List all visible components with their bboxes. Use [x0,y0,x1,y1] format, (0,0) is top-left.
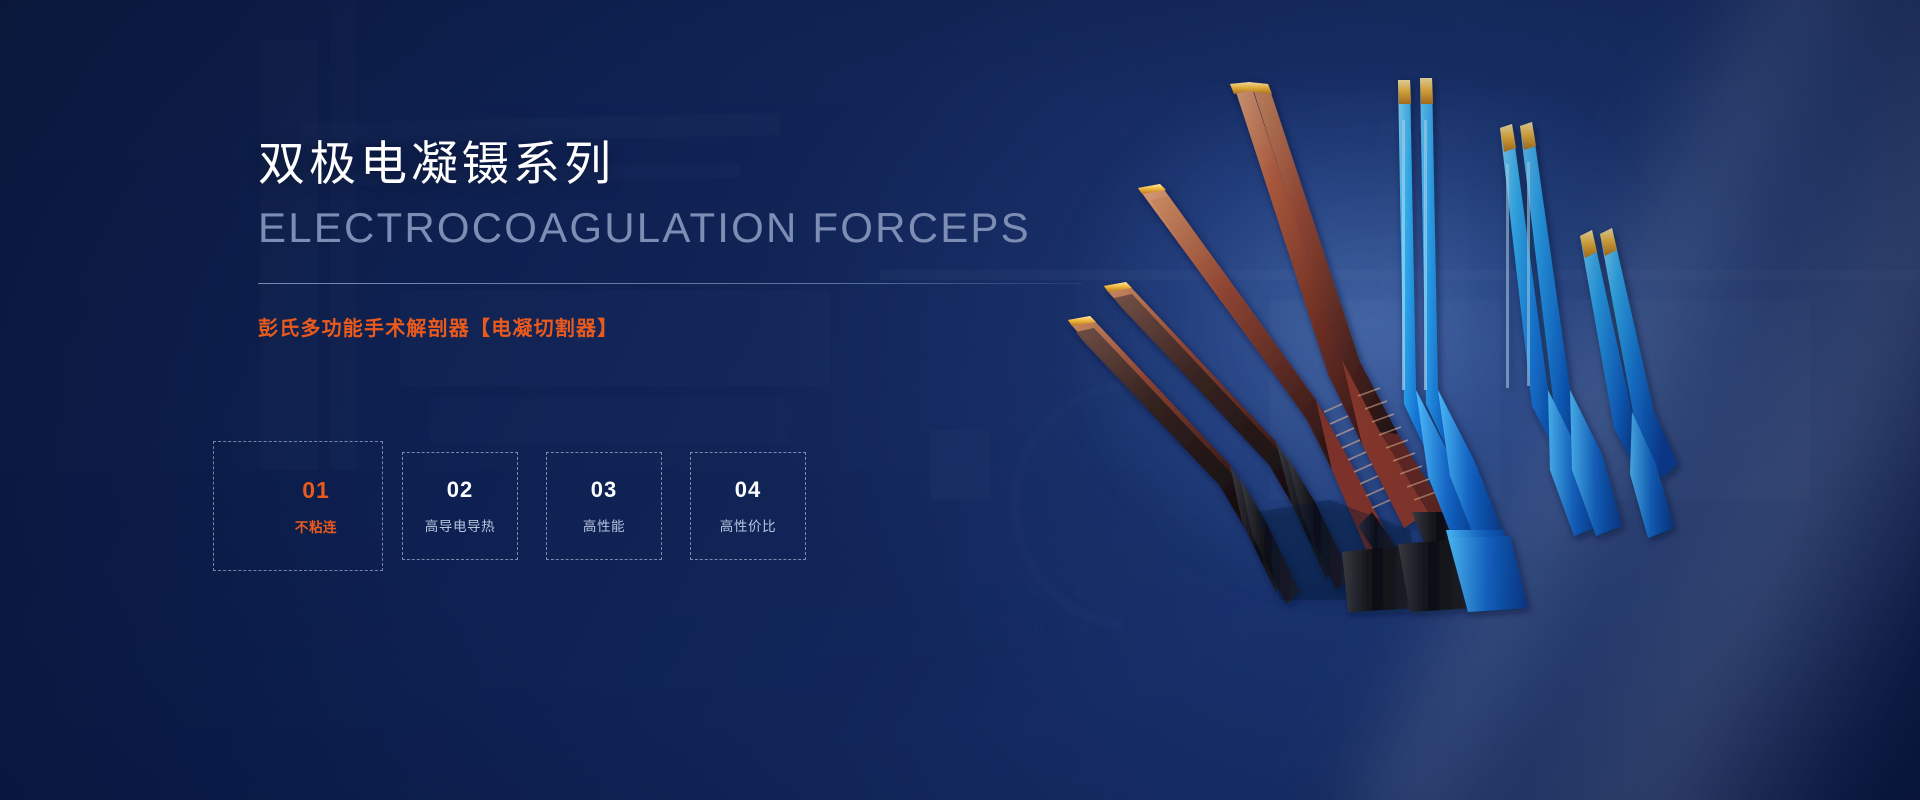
feature-label: 高性能 [583,515,625,535]
page-title: 双极电凝镊系列 [258,140,1098,187]
page-subtitle-en: ELECTROCOAGULATION FORCEPS [258,207,1098,249]
feature-label: 高导电导热 [425,515,496,535]
feature-box-02[interactable]: 02 高导电导热 [402,452,518,560]
feature-number: 03 [591,477,617,503]
banner-text-block: 双极电凝镊系列 ELECTROCOAGULATION FORCEPS 彭氏多功能… [258,140,1098,341]
title-divider [258,283,1082,284]
feature-label: 不粘连 [295,516,337,536]
forceps-product-image [1080,60,1640,620]
feature-label: 高性价比 [720,515,776,535]
feature-number: 01 [302,477,330,504]
product-banner: 双极电凝镊系列 ELECTROCOAGULATION FORCEPS 彭氏多功能… [0,0,1920,800]
feature-box-03[interactable]: 03 高性能 [546,452,662,560]
feature-box-list: 01 不粘连 02 高导电导热 03 高性能 04 高性价比 [258,452,806,560]
feature-number: 04 [735,477,761,503]
feature-number: 02 [447,477,473,503]
product-tagline: 彭氏多功能手术解剖器【电凝切割器】 [258,312,1098,341]
feature-box-01[interactable]: 01 不粘连 [258,452,374,560]
feature-box-04[interactable]: 04 高性价比 [690,452,806,560]
